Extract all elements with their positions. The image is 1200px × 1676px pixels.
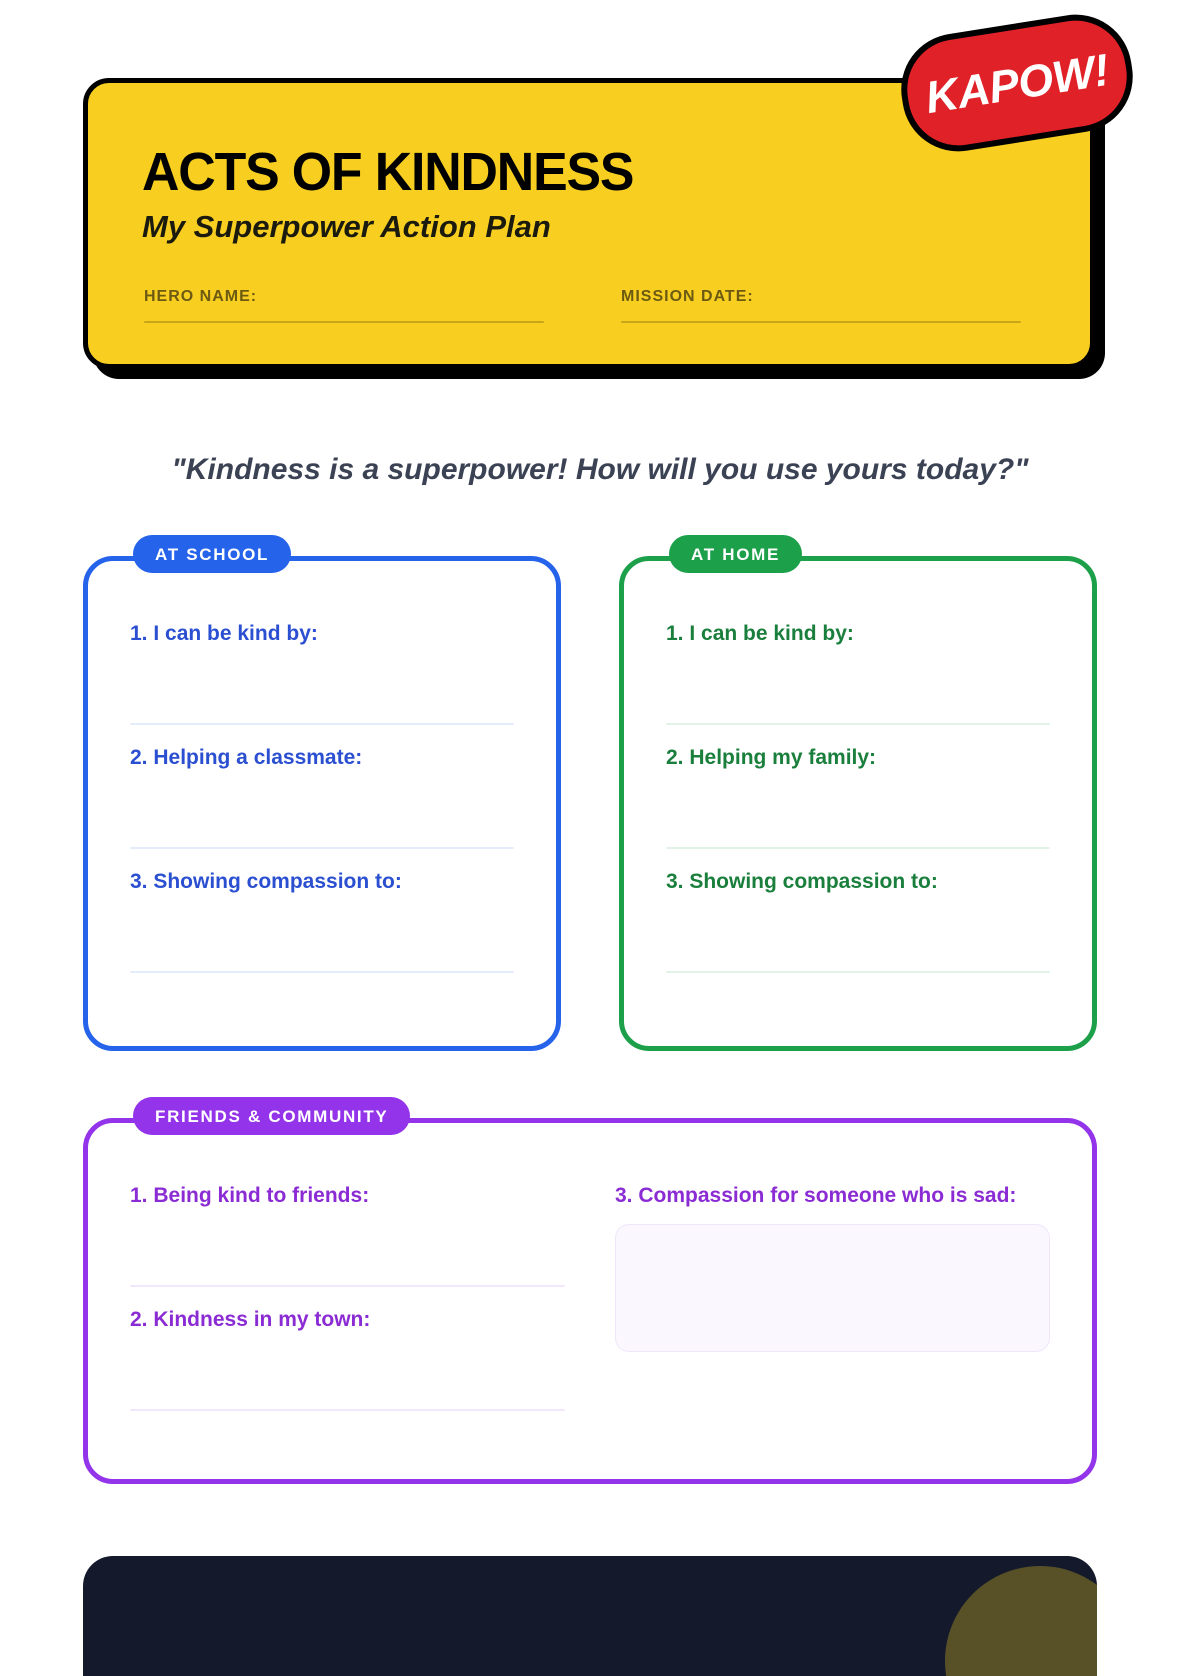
answer-writeline[interactable] [130,1285,565,1287]
answer-writeline[interactable] [666,971,1050,973]
prompt-label: 1. I can be kind by: [666,623,1050,644]
answer-textarea[interactable] [615,1224,1050,1352]
hero-name-writeline[interactable] [144,321,544,323]
prompt-slot: 1. Being kind to friends: [130,1185,565,1287]
section-card-school: AT SCHOOL 1. I can be kind by: 2. Helpin… [83,556,561,1051]
kindness-quote: "Kindness is a superpower! How will you … [0,452,1200,488]
prompt-slot: 1. I can be kind by: [666,623,1050,725]
prompt-label: 3. Showing compassion to: [130,871,514,892]
prompt-slot: 1. I can be kind by: [130,623,514,725]
section-body-school: 1. I can be kind by: 2. Helping a classm… [88,561,556,973]
section-body-home: 1. I can be kind by: 2. Helping my famil… [624,561,1092,973]
prompt-slot: 2. Helping a classmate: [130,747,514,849]
mission-date-label: MISSION DATE: [621,289,1021,305]
kapow-badge-label: KAPOW! [922,46,1111,119]
prompt-label: 3. Showing compassion to: [666,871,1050,892]
answer-writeline[interactable] [666,723,1050,725]
mission-date-writeline[interactable] [621,321,1021,323]
hero-name-label: HERO NAME: [144,289,544,305]
answer-writeline[interactable] [130,971,514,973]
page-subtitle: My Superpower Action Plan [142,211,551,242]
prompt-label: 1. I can be kind by: [130,623,514,644]
decorative-blob [925,1556,1097,1676]
prompt-slot: 3. Showing compassion to: [130,871,514,973]
prompt-slot: 2. Helping my family: [666,747,1050,849]
page-title: ACTS OF KINDNESS [142,145,633,199]
prompt-label: 1. Being kind to friends: [130,1185,565,1206]
answer-writeline[interactable] [666,847,1050,849]
prompt-label: 3. Compassion for someone who is sad: [615,1185,1050,1206]
prompt-slot: 2. Kindness in my town: [130,1309,565,1411]
prompt-label: 2. Helping a classmate: [130,747,514,768]
section-label-home: AT HOME [669,535,802,573]
answer-writeline[interactable] [130,847,514,849]
prompt-label: 2. Kindness in my town: [130,1309,565,1330]
section-label-community: FRIENDS & COMMUNITY [133,1097,410,1135]
section-card-home: AT HOME 1. I can be kind by: 2. Helping … [619,556,1097,1051]
mission-date-field[interactable]: MISSION DATE: [621,289,1021,323]
answer-writeline[interactable] [130,1409,565,1411]
section-body-community: 1. Being kind to friends: 2. Kindness in… [88,1123,1092,1411]
footer-panel [83,1556,1097,1676]
section-card-community: FRIENDS & COMMUNITY 1. Being kind to fri… [83,1118,1097,1484]
community-right-column: 3. Compassion for someone who is sad: [615,1185,1050,1411]
hero-name-field[interactable]: HERO NAME: [144,289,544,323]
prompt-slot: 3. Showing compassion to: [666,871,1050,973]
prompt-label: 2. Helping my family: [666,747,1050,768]
community-left-column: 1. Being kind to friends: 2. Kindness in… [130,1185,565,1411]
answer-writeline[interactable] [130,723,514,725]
section-label-school: AT SCHOOL [133,535,291,573]
